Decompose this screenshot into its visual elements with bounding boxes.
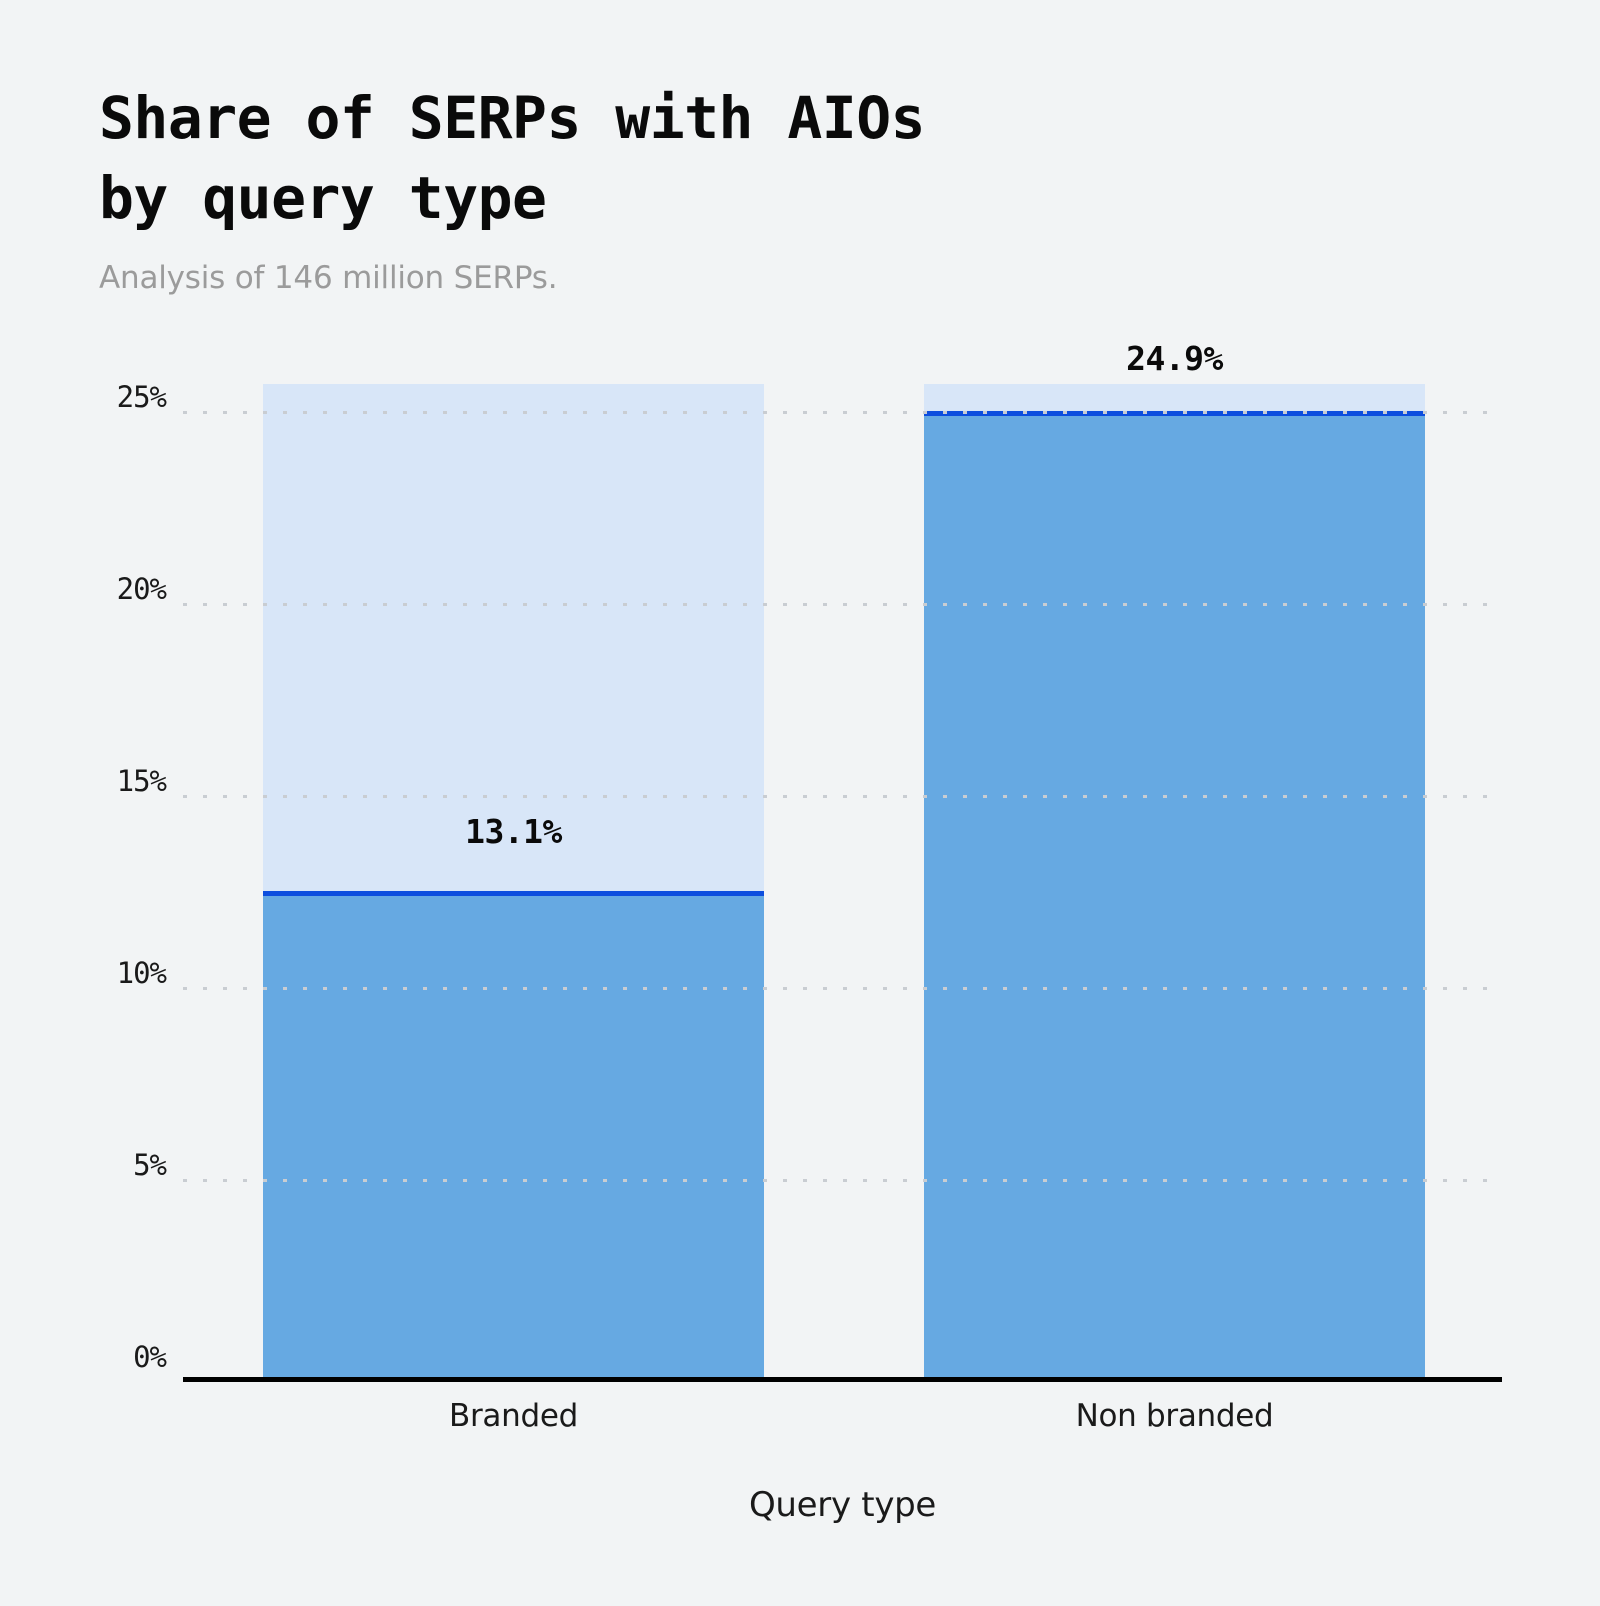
xtick-label-non-branded: Non branded — [924, 1398, 1425, 1434]
bar-value-label-non-branded: 24.9% — [924, 339, 1425, 378]
gridline-25 — [183, 411, 1502, 414]
gridline-15 — [183, 795, 1502, 798]
ytick-label-20: 20% — [0, 572, 166, 606]
gridline-20 — [183, 603, 1502, 606]
bar-group-non-branded[interactable] — [924, 384, 1425, 1377]
plot-area: 25% 20% 15% 10% 5% 0% 13.1% 24.9% Brande… — [0, 0, 1600, 1606]
bar-group-branded[interactable] — [263, 384, 764, 1377]
x-axis-line — [183, 1377, 1502, 1382]
ytick-label-0: 0% — [0, 1340, 166, 1374]
gridline-10 — [183, 987, 1502, 990]
xtick-label-branded: Branded — [263, 1398, 764, 1434]
ytick-label-25: 25% — [0, 380, 166, 414]
ytick-label-5: 5% — [0, 1148, 166, 1182]
bar-value-label-branded: 13.1% — [263, 812, 764, 851]
gridline-5 — [183, 1179, 1502, 1182]
bar-fill-branded — [263, 891, 764, 1377]
bar-fill-non-branded — [924, 411, 1425, 1377]
ytick-label-15: 15% — [0, 764, 166, 798]
ytick-label-10: 10% — [0, 956, 166, 990]
x-axis-title: Query type — [183, 1485, 1502, 1525]
chart-page: Share of SERPs with AIOs by query type A… — [0, 0, 1600, 1606]
